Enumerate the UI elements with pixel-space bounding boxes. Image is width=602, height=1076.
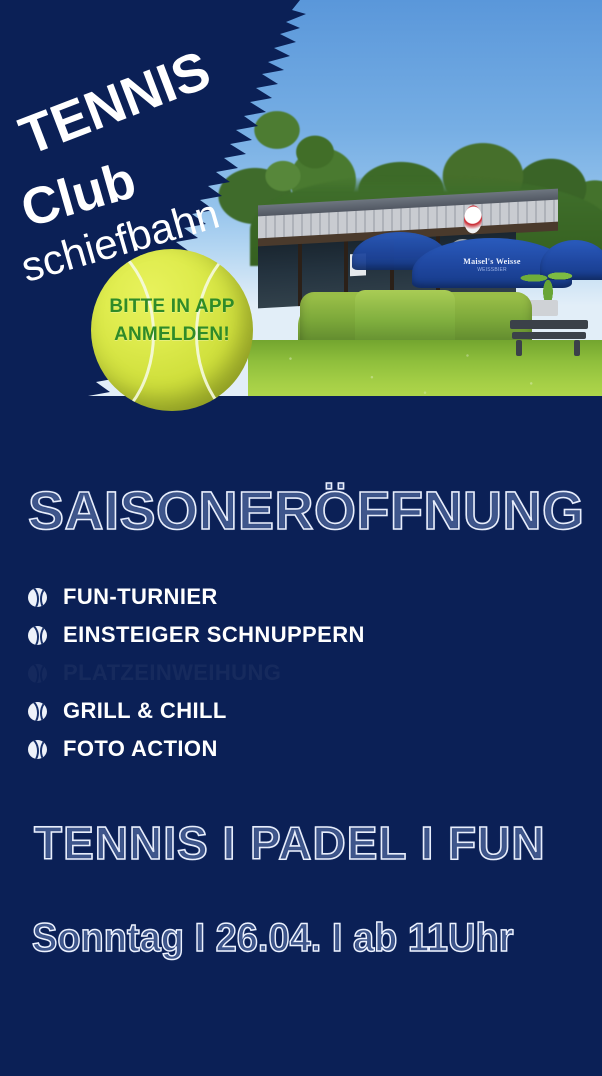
planter-box <box>528 300 558 316</box>
list-item-label: EINSTEIGER SCHNUPPERN <box>63 622 365 648</box>
ball-cta-line2: ANMELDEN! <box>91 321 253 349</box>
list-item-label: PLATZEINWEIHUNG <box>63 660 281 686</box>
list-item: GRILL & CHILL <box>28 692 508 730</box>
tennis-ball-icon <box>28 626 47 645</box>
bench-leg <box>574 340 580 356</box>
tennis-ball-icon <box>28 702 47 721</box>
tennis-ball-icon <box>28 664 47 683</box>
event-date-line: Sonntag I 26.04. I ab 11Uhr <box>32 916 514 961</box>
app-signup-ball-badge[interactable]: BITTE IN APP ANMELDEN! <box>91 249 253 411</box>
list-item-label: GRILL & CHILL <box>63 698 227 724</box>
tennis-ball-icon <box>28 588 47 607</box>
park-bench <box>512 332 586 339</box>
list-item-label: FUN-TURNIER <box>63 584 218 610</box>
page-title: SAISONERÖFFNUNG <box>28 480 585 542</box>
bench-leg <box>516 340 522 356</box>
park-bench <box>510 320 588 329</box>
disciplines-line: TENNIS I PADEL I FUN <box>34 816 546 870</box>
tennis-ball-icon <box>28 740 47 759</box>
window-mullion <box>298 244 302 306</box>
logo-word-tennis: TENNIS <box>14 44 217 163</box>
ball-cta-text: BITTE IN APP ANMELDEN! <box>91 293 253 348</box>
program-list: FUN-TURNIER EINSTEIGER SCHNUPPERN PLATZE… <box>28 578 508 768</box>
poster-canvas: Maisel's Weisse WEISSBIER TENNIS Club sc… <box>0 0 602 1076</box>
club-logo: TENNIS Club schiefbahn <box>24 52 294 222</box>
lawn-texture <box>248 340 602 402</box>
ball-cta-line1: BITTE IN APP <box>91 293 253 321</box>
list-item-hidden: PLATZEINWEIHUNG <box>28 654 508 692</box>
list-item: FUN-TURNIER <box>28 578 508 616</box>
list-item: FOTO ACTION <box>28 730 508 768</box>
list-item: EINSTEIGER SCHNUPPERN <box>28 616 508 654</box>
list-item-label: FOTO ACTION <box>63 736 218 762</box>
